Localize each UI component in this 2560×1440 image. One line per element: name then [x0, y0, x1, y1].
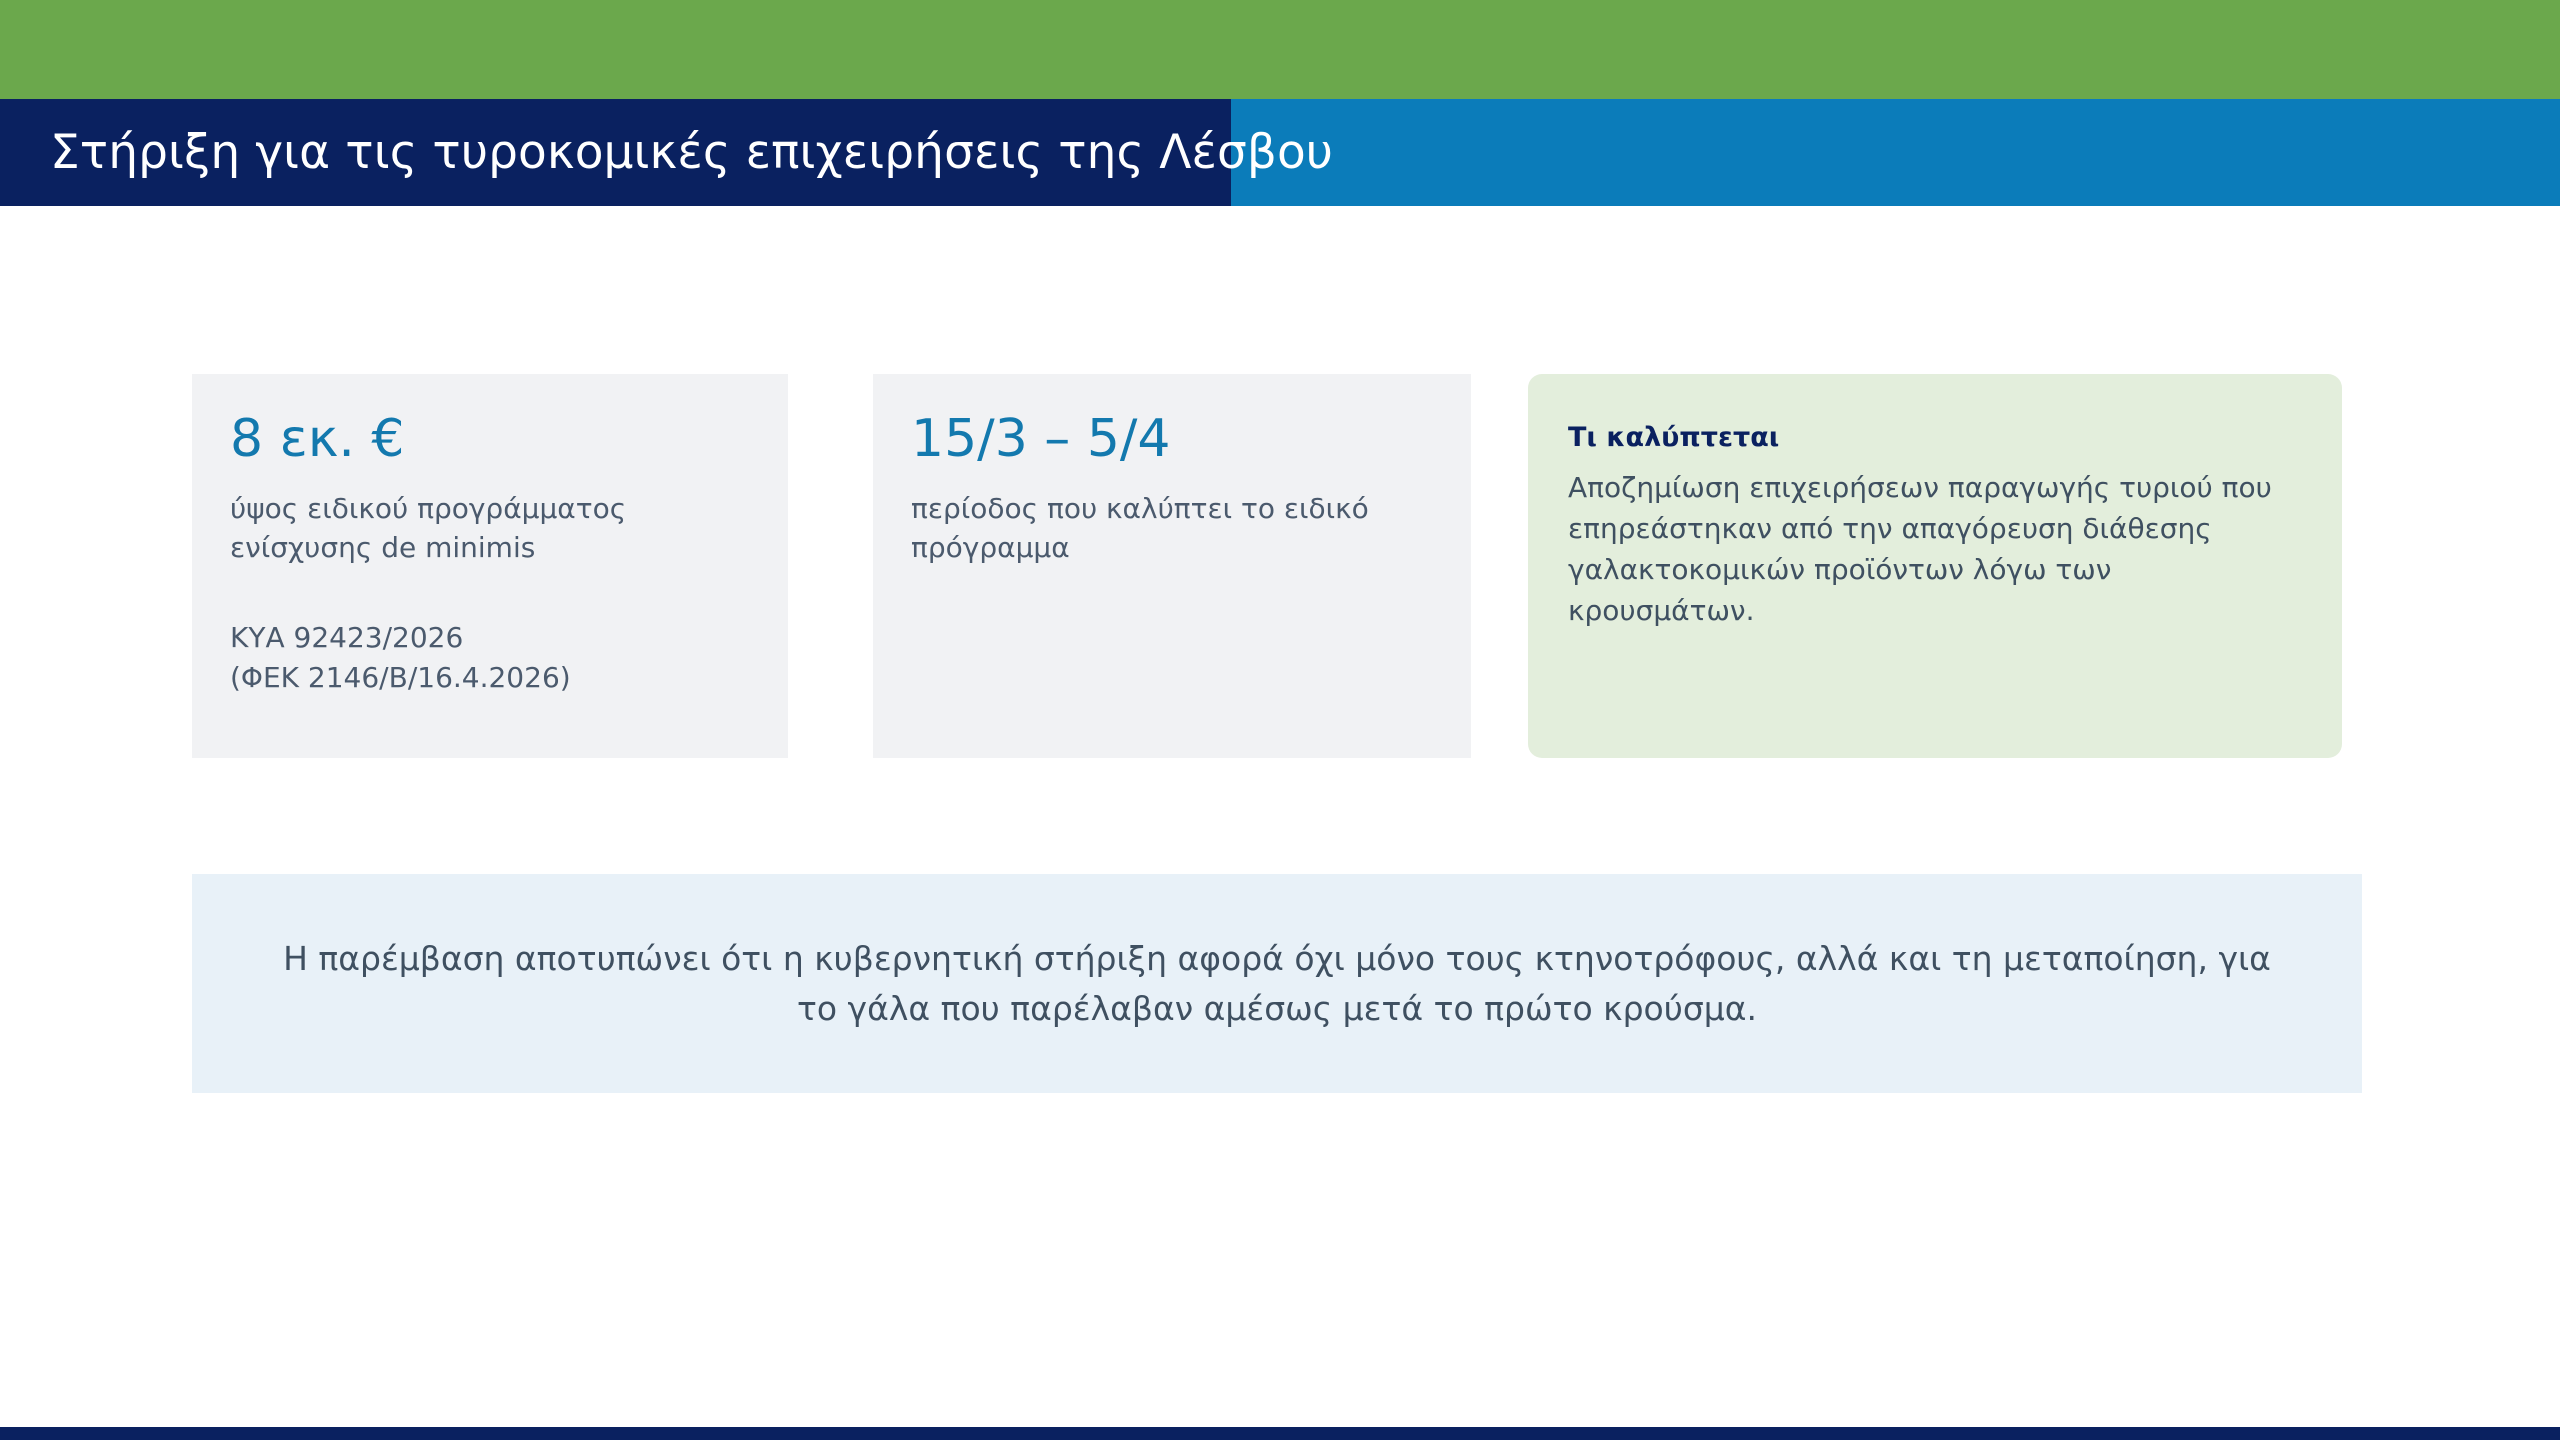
summary-banner: Η παρέμβαση αποτυπώνει ότι η κυβερνητική…: [192, 874, 2362, 1093]
title-plate: Στήριξη για τις τυροκομικές επιχειρήσεις…: [0, 99, 1231, 206]
stat-card-coverage-title: Τι καλύπτεται: [1568, 422, 2298, 454]
stat-card-budget: 8 εκ. € ύψος ειδικού προγράμματος ενίσχυ…: [192, 374, 788, 758]
stat-card-period-value: 15/3 – 5/4: [911, 412, 1431, 467]
stat-card-budget-note: ΚΥΑ 92423/2026 (ΦΕΚ 2146/Β/16.4.2026): [230, 618, 748, 698]
page-title: Στήριξη για τις τυροκομικές επιχειρήσεις…: [0, 129, 1333, 176]
stat-card-coverage: Τι καλύπτεται Αποζημίωση επιχειρήσεων πα…: [1528, 374, 2342, 758]
stat-card-budget-value: 8 εκ. €: [230, 412, 748, 467]
stat-cards-row: 8 εκ. € ύψος ειδικού προγράμματος ενίσχυ…: [192, 374, 2342, 758]
footer-bar: [0, 1427, 2560, 1440]
top-green-band: [0, 0, 2560, 99]
summary-banner-text: Η παρέμβαση αποτυπώνει ότι η κυβερνητική…: [282, 934, 2272, 1033]
stat-card-budget-description: ύψος ειδικού προγράμματος ενίσχυσης de m…: [230, 489, 748, 569]
stat-card-period-description: περίοδος που καλύπτει το ειδικό πρόγραμμ…: [911, 489, 1431, 569]
stat-card-period: 15/3 – 5/4 περίοδος που καλύπτει το ειδι…: [873, 374, 1471, 758]
stat-card-coverage-body: Αποζημίωση επιχειρήσεων παραγωγής τυριού…: [1568, 468, 2298, 632]
